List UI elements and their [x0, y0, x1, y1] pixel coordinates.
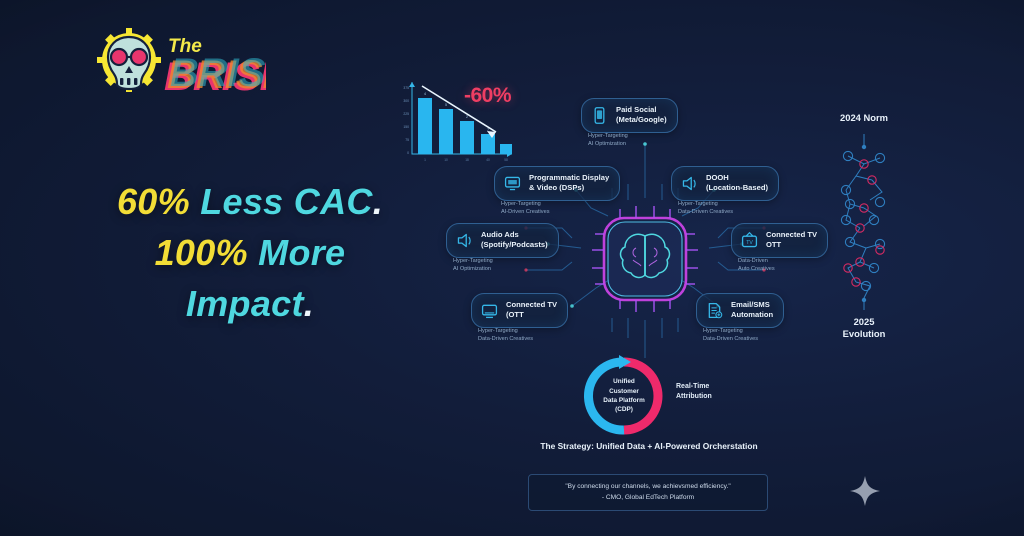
ai-brain-chip	[586, 200, 704, 318]
sparkle-decoration	[848, 474, 882, 508]
strategy-caption: The Strategy: Unified Data + AI-Powered …	[504, 440, 794, 453]
cdp-label: Unified Customer Data Platform (CDP)	[581, 353, 667, 439]
headline-impact: Impact	[186, 283, 304, 324]
node-connected-tv-bottom[interactable]: Connected TV(OTT	[471, 293, 568, 328]
node-dooh-sub: Hyper-TargetingData-Driven Creatives	[678, 200, 733, 216]
speaker-icon	[455, 231, 474, 250]
node-programmatic-display-sub: Hyper-TargetingAI-Driven Creatives	[501, 200, 550, 216]
evolution-timeline: 2024 Norm	[818, 112, 910, 340]
svg-text:BRISK: BRISK	[170, 51, 266, 95]
svg-text:2: 2	[466, 115, 468, 119]
sparkle-icon	[848, 474, 882, 508]
speaker-icon	[680, 174, 699, 193]
brand-logo[interactable]: The BRISK BRISK BRISK	[96, 26, 266, 104]
svg-text:4: 4	[424, 92, 426, 96]
svg-text:TV: TV	[746, 240, 753, 246]
svg-text:300: 300	[403, 99, 409, 103]
svg-text:0: 0	[407, 151, 409, 155]
node-programmatic-display[interactable]: Programmatic Display& Video (DSPs)	[494, 166, 620, 201]
svg-text:375: 375	[403, 86, 409, 90]
cdp-ring[interactable]: Unified Customer Data Platform (CDP)	[581, 353, 667, 439]
quote-text: "By connecting our channels, we achievsm…	[537, 482, 759, 493]
timeline-bottom-label: 2025 Evolution	[818, 316, 910, 340]
node-paid-social-label: Paid Social(Meta/Google)	[616, 105, 667, 126]
node-connected-tv-right[interactable]: TV Connected TVOTT	[731, 223, 828, 258]
quote-author: - CMO, Global EdTech Platform	[537, 493, 759, 504]
headline-60-percent: 60%	[117, 181, 200, 222]
svg-text:10: 10	[444, 158, 448, 162]
chart-reduction-label: -60%	[464, 84, 511, 108]
mobile-ad-icon	[590, 106, 609, 125]
node-connected-tv-right-label: Connected TVOTT	[766, 230, 817, 251]
node-dooh[interactable]: DOOH(Location-Based)	[671, 166, 779, 201]
timeline-top-label: 2024 Norm	[818, 112, 910, 124]
node-dooh-label: DOOH(Location-Based)	[706, 173, 768, 194]
node-email-sms-sub: Hyper-TargetingData-Driven Creatives	[703, 327, 758, 343]
svg-text:225: 225	[403, 112, 409, 116]
node-audio-ads-sub: Hyper-TargetingAI Optimization	[453, 257, 493, 273]
headline-100-percent: 100%	[155, 232, 259, 273]
svg-text:18: 18	[465, 158, 469, 162]
desktop-display-icon	[503, 174, 522, 193]
svg-text:40: 40	[486, 158, 490, 162]
dna-chain-icon	[826, 134, 902, 312]
svg-text:1: 1	[424, 158, 426, 162]
node-audio-ads-label: Audio Ads(Spotify/Podcasts)	[481, 230, 548, 251]
headline-more: More	[258, 232, 345, 273]
node-programmatic-display-label: Programmatic Display& Video (DSPs)	[529, 173, 609, 194]
tv-icon: TV	[740, 231, 759, 250]
customer-quote: "By connecting our channels, we achievsm…	[528, 474, 768, 511]
logo-brisk-text: BRISK BRISK BRISK	[164, 51, 266, 99]
node-connected-tv-bottom-label: Connected TV(OTT	[506, 300, 557, 321]
promo-graphic: The BRISK BRISK BRISK 60% Less CAC. 100%…	[0, 0, 1024, 536]
realtime-attribution-label: Real-Time Attribution	[676, 382, 712, 402]
monitor-icon	[480, 301, 499, 320]
svg-text:58: 58	[504, 158, 508, 162]
svg-text:150: 150	[403, 125, 409, 129]
headline-dot-2: .	[304, 283, 314, 324]
node-audio-ads[interactable]: Audio Ads(Spotify/Podcasts)	[446, 223, 559, 258]
node-paid-social[interactable]: Paid Social(Meta/Google)	[581, 98, 678, 133]
node-connected-tv-right-sub: Data-DrivenAuto Creatives	[738, 257, 775, 273]
document-plus-icon	[705, 301, 724, 320]
brisk-skull-logo	[97, 28, 161, 92]
node-paid-social-sub: Hyper-TargetingAI Optimization	[588, 132, 628, 148]
svg-text:5: 5	[445, 103, 447, 107]
svg-text:75: 75	[405, 138, 409, 142]
node-email-sms-label: Email/SMSAutomation	[731, 300, 773, 321]
cac-reduction-chart: 375300225 150750 4527 110184058	[392, 76, 542, 171]
node-email-sms[interactable]: Email/SMSAutomation	[696, 293, 784, 328]
node-connected-tv-bottom-sub: Hyper-TargetingData-Driven Creatives	[478, 327, 533, 343]
headline-less-cac: Less CAC	[200, 181, 372, 222]
